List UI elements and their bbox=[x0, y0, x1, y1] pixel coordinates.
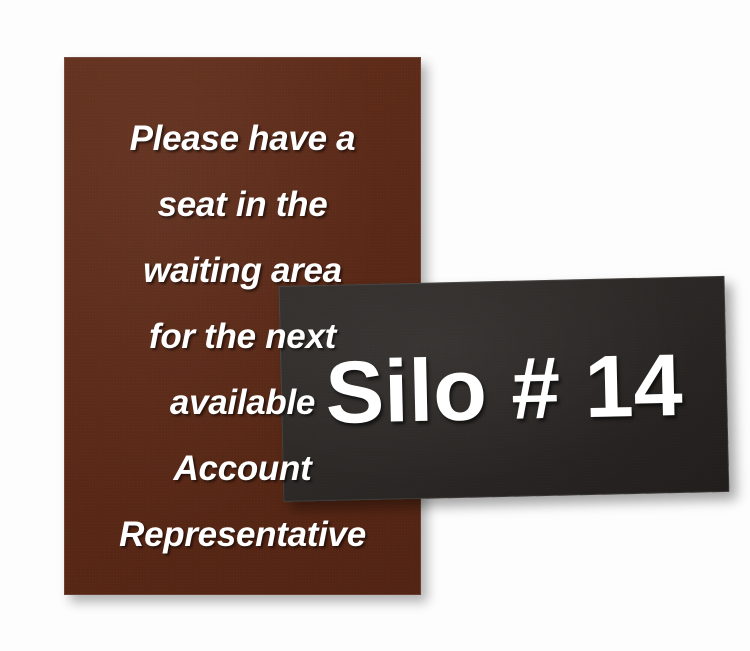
waiting-area-sign-line-6: Account bbox=[64, 436, 421, 502]
waiting-area-sign-line-4: for the next bbox=[64, 304, 421, 370]
waiting-area-sign-line-5: available bbox=[64, 370, 421, 436]
waiting-area-sign: Please have a seat in the waiting area f… bbox=[64, 57, 421, 595]
waiting-area-sign-line-2: seat in the bbox=[64, 172, 421, 238]
waiting-area-sign-line-7: Representative bbox=[64, 502, 421, 568]
waiting-area-sign-line-3: waiting area bbox=[64, 238, 421, 304]
waiting-area-sign-line-1: Please have a bbox=[64, 106, 421, 172]
sign-photo-scene: Please have a seat in the waiting area f… bbox=[0, 0, 750, 651]
